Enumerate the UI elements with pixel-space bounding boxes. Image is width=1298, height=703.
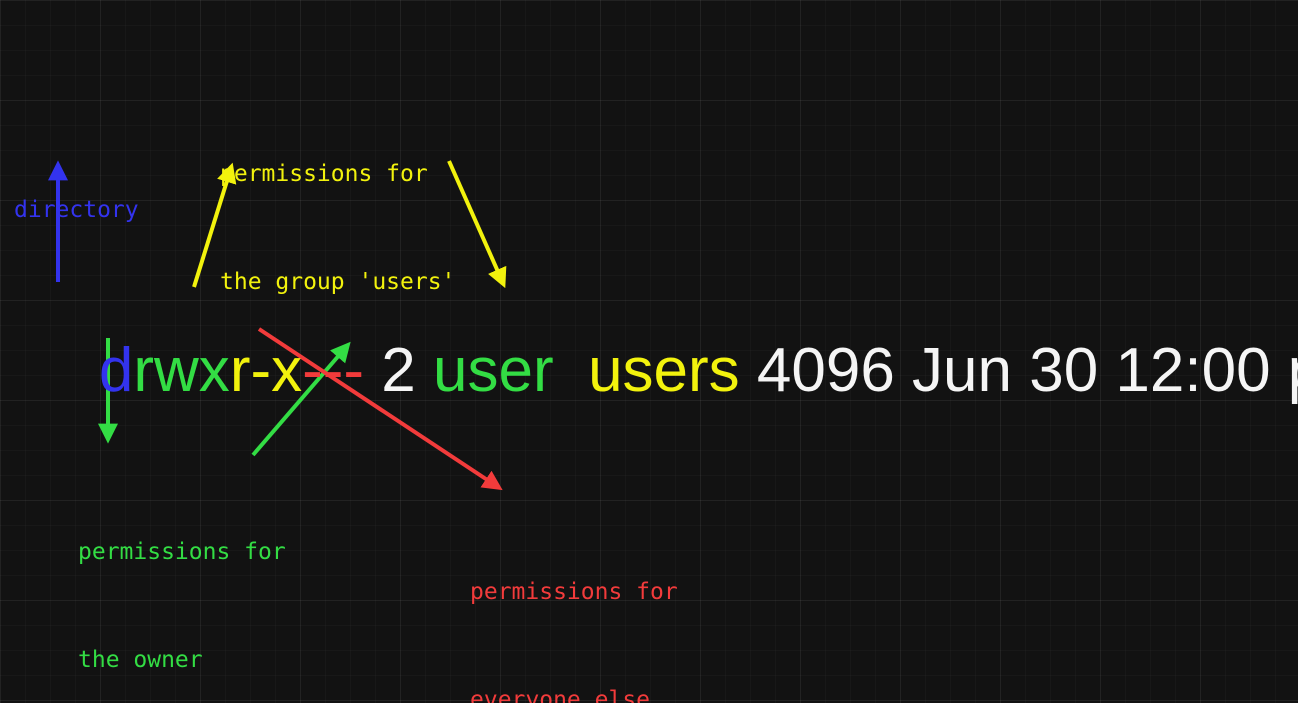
annotation-line: permissions for (470, 574, 678, 610)
annotation-line: directory (14, 192, 139, 228)
annotation-line: permissions for (78, 534, 286, 570)
owner-permissions: rwx (133, 336, 229, 405)
field-gap (554, 336, 588, 405)
annotation-label-group: permissions for the group 'users' (220, 84, 455, 372)
annotation-label-directory: directory (14, 120, 139, 300)
annotated-ls-output-canvas: drwxr-x--- 2 user users 4096 Jun 30 12:0… (0, 0, 1298, 703)
arrow-group-to-groupname (449, 161, 503, 283)
annotation-line: the owner (78, 642, 286, 678)
annotation-label-owner: permissions for the owner (78, 462, 286, 703)
filetype-flag: d (99, 336, 133, 405)
size-date-name: 4096 Jun 30 12:00 projects (740, 336, 1298, 405)
annotation-label-other: permissions for everyone else (470, 502, 678, 703)
annotation-line: the group 'users' (220, 264, 455, 300)
annotation-line: everyone else (470, 682, 678, 703)
annotation-line: permissions for (220, 156, 455, 192)
group-name: users (588, 336, 740, 405)
